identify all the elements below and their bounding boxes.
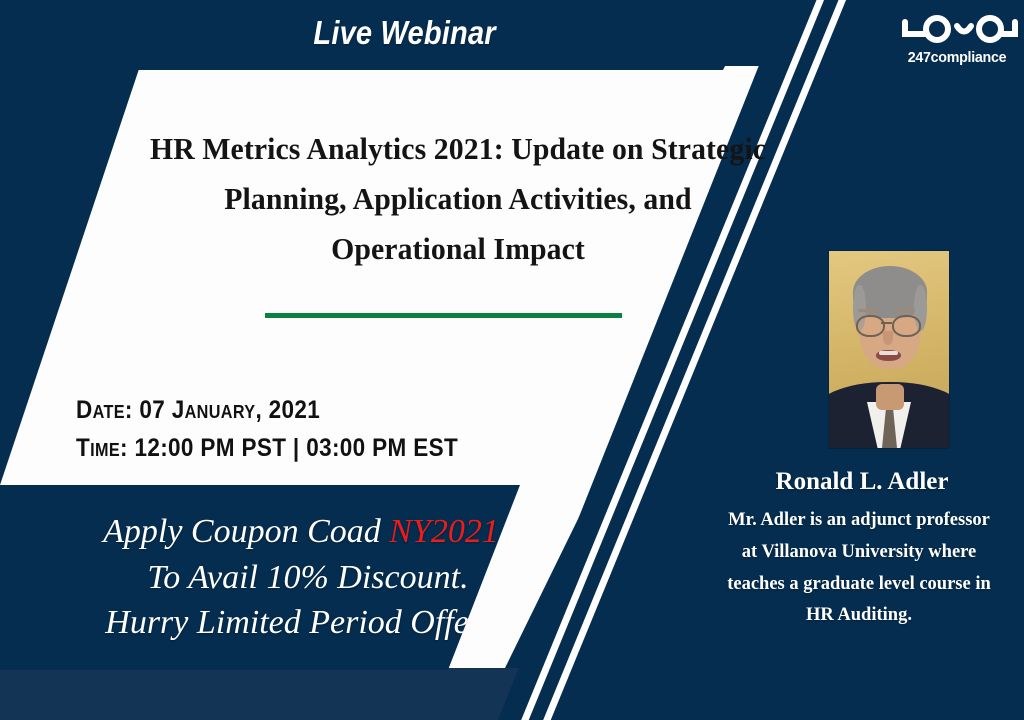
photo-brow-left <box>858 309 879 312</box>
speaker-bio-line-4: HR Auditing. <box>694 600 1024 632</box>
coupon-line-2: To Avail 10% Discount. <box>147 555 468 601</box>
eyeglasses-icon <box>895 14 1019 48</box>
coupon-code: NY2021 <box>389 513 499 550</box>
brand-logo: 247compliance <box>890 14 1024 66</box>
photo-lens-right <box>892 315 921 337</box>
coupon-line-3: Hurry Limited Period Offer!! <box>105 600 504 646</box>
speaker-bio-line-3: teaches a graduate level course in <box>694 569 1024 601</box>
schedule-block: Date: 07 January, 2021 Time: 12:00 PM PS… <box>76 392 501 467</box>
photo-brow-right <box>894 309 915 312</box>
speaker-bio-line-1: Mr. Adler is an adjunct professor <box>694 505 1024 537</box>
live-webinar-banner: Live Webinar <box>0 0 760 70</box>
live-webinar-label: Live Webinar <box>314 14 496 52</box>
webinar-flyer: Live Webinar 247compliance HR Metrics An… <box>0 0 1024 720</box>
photo-neck <box>876 384 904 410</box>
speaker-photo <box>829 251 949 448</box>
photo-teeth <box>879 351 898 355</box>
webinar-title: HR Metrics Analytics 2021: Update on Str… <box>96 124 820 275</box>
title-divider <box>265 313 622 318</box>
speaker-bio-line-2: at Villanova University where <box>694 537 1024 569</box>
photo-lens-left <box>856 315 885 337</box>
speaker-bio: Mr. Adler is an adjunct professor at Vil… <box>694 505 1024 632</box>
brand-logo-text: 247compliance <box>893 49 1020 66</box>
schedule-date: Date: 07 January, 2021 <box>76 392 458 430</box>
title-line-2: Planning, Application Activities, and <box>110 174 805 224</box>
photo-nose <box>883 331 893 345</box>
coupon-line-1: Apply Coupon Coad NY2021 <box>103 509 499 555</box>
coupon-prefix: Apply Coupon Coad <box>103 513 389 550</box>
speaker-name: Ronald L. Adler <box>700 468 1024 496</box>
photo-glasses-bridge <box>881 322 892 324</box>
title-line-3: Operational Impact <box>110 224 805 274</box>
schedule-time: Time: 12:00 PM PST | 03:00 PM EST <box>76 430 458 468</box>
title-line-1: HR Metrics Analytics 2021: Update on Str… <box>110 124 805 174</box>
